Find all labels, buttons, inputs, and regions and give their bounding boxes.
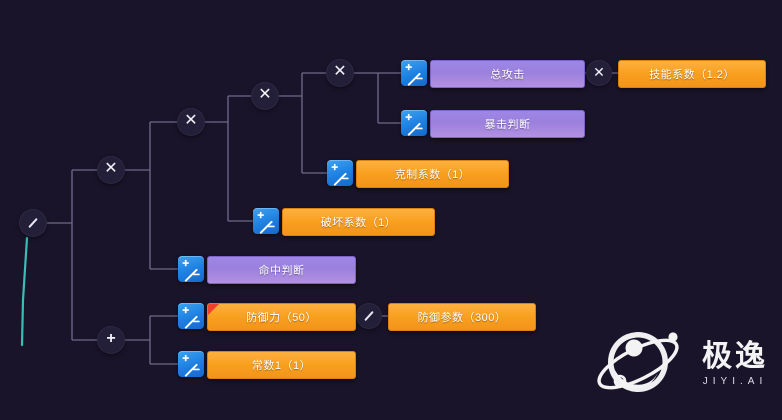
watermark: 极逸 JIYI.AI — [584, 322, 768, 406]
pill-label: 常数1（1） — [252, 357, 311, 373]
planet-orbit-icon — [584, 322, 692, 406]
watermark-cn: 极逸 — [702, 342, 768, 372]
math-badge-crit-judge[interactable] — [401, 110, 427, 136]
pill-label: 命中判断 — [259, 262, 305, 278]
pill-crit-judge[interactable]: 暴击判断 — [430, 110, 585, 138]
node-divide-defense[interactable] — [357, 304, 381, 328]
pill-hit-judge[interactable]: 命中判断 — [207, 256, 356, 284]
pill-label: 技能系数（1.2） — [649, 66, 735, 82]
node-multiply-b[interactable]: ✕ — [178, 109, 204, 135]
node-multiply-c[interactable]: ✕ — [252, 83, 278, 109]
pill-total-attack[interactable]: 总攻击 — [430, 60, 585, 88]
node-multiply-e[interactable]: ✕ — [587, 61, 611, 85]
math-badge-defense[interactable] — [178, 303, 204, 329]
pill-restrain-coef[interactable]: 克制系数（1） — [356, 160, 509, 188]
modified-marker-icon — [208, 304, 219, 315]
math-badge-constant-1[interactable] — [178, 351, 204, 377]
math-badge-total-attack[interactable] — [401, 60, 427, 86]
plus-minus-icon — [401, 110, 427, 136]
math-badge-restrain-coef[interactable] — [327, 160, 353, 186]
pill-label: 克制系数（1） — [395, 166, 471, 182]
plus-minus-icon — [401, 60, 427, 86]
divide-icon — [28, 218, 38, 228]
node-multiply-d[interactable]: ✕ — [327, 60, 353, 86]
pill-break-coef[interactable]: 破坏系数（1） — [282, 208, 435, 236]
pill-label: 防御力（50） — [246, 309, 317, 325]
node-multiply-a[interactable]: ✕ — [98, 157, 124, 183]
pill-defense-param[interactable]: 防御参数（300） — [388, 303, 536, 331]
pill-label: 总攻击 — [490, 66, 525, 82]
watermark-en: JIYI.AI — [703, 377, 767, 387]
multiply-icon: ✕ — [333, 64, 346, 80]
pill-label: 暴击判断 — [485, 116, 531, 132]
formula-graph-canvas[interactable]: ✕ ✕ ✕ ✕ ✕ + — [0, 0, 782, 420]
multiply-icon: ✕ — [104, 161, 117, 177]
divide-icon — [364, 311, 374, 321]
pill-label: 防御参数（300） — [418, 309, 507, 325]
pill-skill-coef[interactable]: 技能系数（1.2） — [618, 60, 766, 88]
plus-minus-icon — [178, 303, 204, 329]
multiply-icon: ✕ — [258, 87, 271, 103]
pill-constant-1[interactable]: 常数1（1） — [207, 351, 356, 379]
pill-label: 破坏系数（1） — [321, 214, 397, 230]
pill-defense[interactable]: 防御力（50） — [207, 303, 356, 331]
node-root-divide[interactable] — [20, 210, 46, 236]
plus-icon: + — [106, 331, 115, 347]
math-badge-hit-judge[interactable] — [178, 256, 204, 282]
node-plus[interactable]: + — [98, 327, 124, 353]
plus-minus-icon — [253, 208, 279, 234]
plus-minus-icon — [178, 256, 204, 282]
plus-minus-icon — [178, 351, 204, 377]
plus-minus-icon — [327, 160, 353, 186]
multiply-icon: ✕ — [593, 65, 605, 79]
multiply-icon: ✕ — [184, 113, 197, 129]
math-badge-break-coef[interactable] — [253, 208, 279, 234]
